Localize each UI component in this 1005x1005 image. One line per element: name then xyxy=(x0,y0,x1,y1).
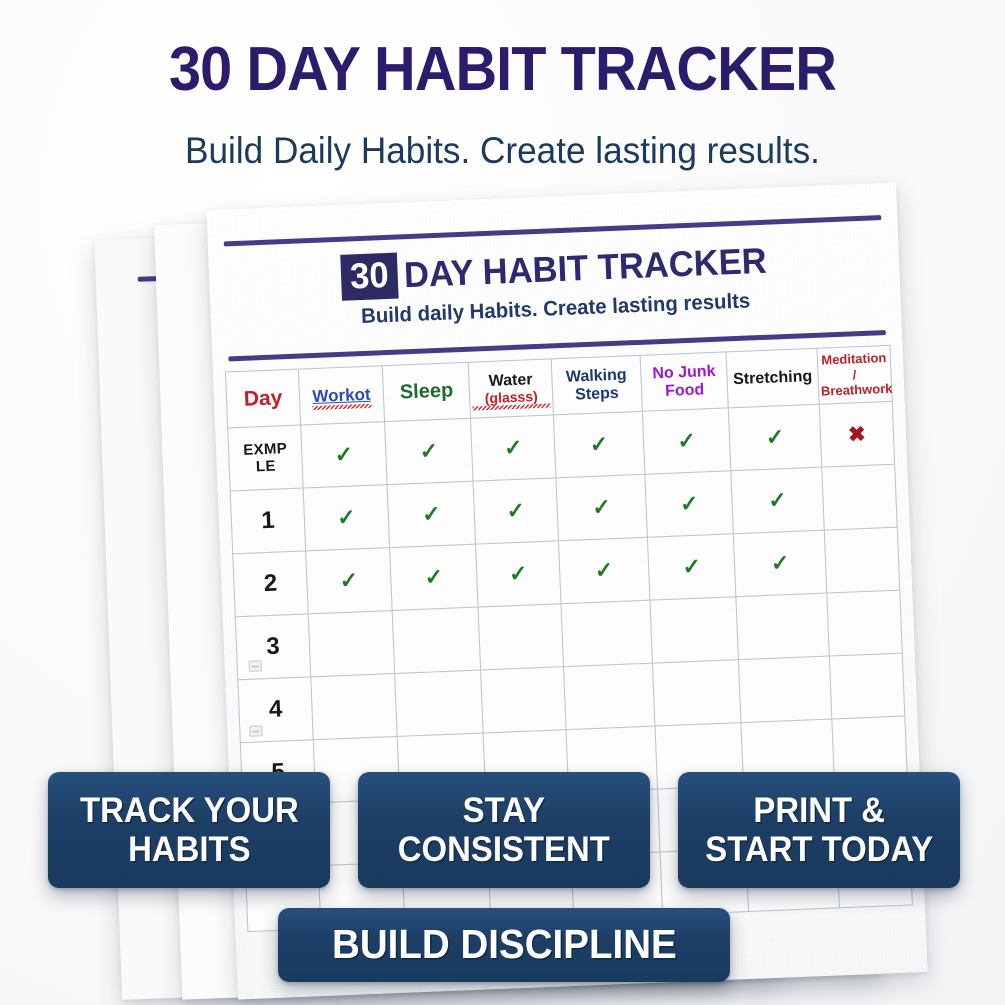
habit-cell[interactable] xyxy=(392,607,481,673)
col-header-water-main: Water xyxy=(488,371,533,390)
check-icon: ✓ xyxy=(768,487,787,513)
col-header-no-junk-food: No Junk Food xyxy=(640,352,729,411)
col-header-sleep: Sleep xyxy=(382,362,471,421)
check-icon: ✓ xyxy=(594,557,613,583)
habit-cell[interactable]: ✓ xyxy=(476,541,561,607)
habit-cell[interactable]: ✓ xyxy=(729,404,822,471)
habit-cell[interactable]: ✓ xyxy=(301,422,387,488)
cta-line1: PRINT & xyxy=(705,791,933,830)
habit-cell[interactable]: ✓ xyxy=(473,478,558,544)
habit-cell[interactable]: ✓ xyxy=(306,548,392,614)
habit-cell[interactable]: ✓ xyxy=(471,415,556,481)
cta-line2: CONSISTENT xyxy=(398,830,610,869)
page-title-number: 30 xyxy=(169,35,231,104)
habit-cell[interactable]: ✓ xyxy=(734,530,827,597)
check-icon: ✓ xyxy=(334,441,353,467)
check-icon: ✓ xyxy=(419,438,438,464)
cta-line1: TRACK YOUR xyxy=(80,791,299,830)
habit-cell[interactable]: ✓ xyxy=(645,471,734,537)
page-title-text: DAY HABIT TRACKER xyxy=(246,35,836,104)
habit-cell[interactable]: ✓ xyxy=(390,544,479,610)
habit-cell[interactable] xyxy=(563,663,655,730)
cta-line2: START TODAY xyxy=(705,830,933,869)
habit-cell[interactable] xyxy=(308,611,394,677)
row-day-label: 2 xyxy=(233,551,309,617)
check-icon: ✓ xyxy=(765,424,784,450)
habit-cell[interactable]: ✓ xyxy=(387,481,476,547)
cta-line2: HABITS xyxy=(80,830,299,869)
check-icon: ✓ xyxy=(422,501,441,527)
habit-cell[interactable] xyxy=(652,660,741,726)
check-icon: ✓ xyxy=(589,431,608,457)
row-day-label: 3 xyxy=(235,614,311,680)
sheet-title-badge: 30 xyxy=(341,253,399,301)
cross-icon: ✖ xyxy=(848,423,867,447)
habit-cell[interactable] xyxy=(827,590,903,656)
col-header-water-unit: (glasss) xyxy=(472,388,550,407)
cta-build-discipline[interactable]: BUILD DISCIPLINE xyxy=(278,908,730,982)
check-icon: ✓ xyxy=(770,550,789,576)
col-header-water: Water (glasss) xyxy=(469,359,554,418)
habit-cell[interactable] xyxy=(739,656,832,723)
check-icon: ✓ xyxy=(337,504,356,530)
cta-line1: STAY xyxy=(398,791,610,830)
check-icon: ✓ xyxy=(504,435,523,461)
habit-cell[interactable]: ✓ xyxy=(556,474,648,541)
sheet-title-text: DAY HABIT TRACKER xyxy=(403,240,767,296)
cta-line1: BUILD DISCIPLINE xyxy=(332,922,677,968)
check-icon: ✓ xyxy=(682,554,701,580)
note-glyph-icon xyxy=(249,725,262,737)
col-header-day: Day xyxy=(225,369,300,428)
sheet-header: 30DAY HABIT TRACKER Build daily Habits. … xyxy=(209,234,901,335)
poster-canvas: 30 DAY HABIT TRACKER Build Daily Habits.… xyxy=(0,0,1005,1005)
habit-cell[interactable]: ✓ xyxy=(558,537,650,604)
habit-cell[interactable]: ✓ xyxy=(731,467,824,534)
check-icon: ✓ xyxy=(506,498,525,524)
habit-cell[interactable] xyxy=(736,593,829,660)
cta-print-start-today[interactable]: PRINT & START TODAY xyxy=(678,772,960,888)
check-icon: ✓ xyxy=(677,428,696,454)
check-icon: ✓ xyxy=(592,494,611,520)
cta-track-your-habits[interactable]: TRACK YOUR HABITS xyxy=(48,772,330,888)
habit-cell[interactable] xyxy=(561,600,653,667)
row-day-label: EXMPLE xyxy=(228,425,304,491)
habit-cell[interactable]: ✖ xyxy=(819,401,895,467)
habit-cell[interactable]: ✓ xyxy=(553,411,645,478)
check-icon: ✓ xyxy=(424,564,443,590)
page-title: 30 DAY HABIT TRACKER xyxy=(35,34,970,105)
habit-cell[interactable] xyxy=(395,670,484,736)
cta-stay-consistent[interactable]: STAY CONSISTENT xyxy=(358,772,650,888)
note-glyph-icon xyxy=(249,660,262,672)
check-icon: ✓ xyxy=(509,561,528,587)
habit-cell[interactable] xyxy=(824,527,900,593)
habit-cell[interactable] xyxy=(481,667,566,733)
habit-cell[interactable]: ✓ xyxy=(303,485,389,551)
habit-cell[interactable]: ✓ xyxy=(384,418,473,484)
habit-cell[interactable] xyxy=(478,604,563,670)
habit-cell[interactable] xyxy=(311,673,397,739)
col-header-workout: Workot xyxy=(299,366,385,425)
habit-cell[interactable] xyxy=(650,597,739,663)
col-header-walking-steps: Walking Steps xyxy=(551,355,642,415)
col-header-stretching: Stretching xyxy=(726,348,819,408)
check-icon: ✓ xyxy=(680,491,699,517)
col-header-meditation: Meditation / Breathwork xyxy=(817,345,892,404)
check-icon: ✓ xyxy=(339,567,358,593)
habit-cell[interactable] xyxy=(822,464,898,530)
habit-cell[interactable]: ✓ xyxy=(642,408,731,474)
habit-cell[interactable] xyxy=(829,653,905,719)
page-subtitle: Build Daily Habits. Create lasting resul… xyxy=(25,130,980,172)
row-day-label: 1 xyxy=(230,488,306,554)
habit-cell[interactable]: ✓ xyxy=(647,534,736,600)
